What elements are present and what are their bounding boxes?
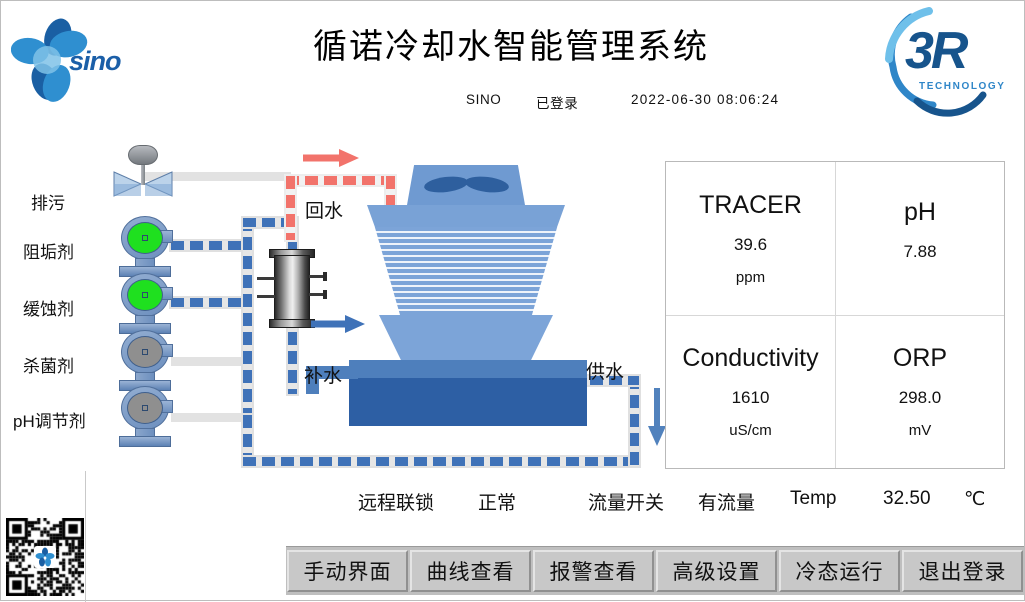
pump-biocide[interactable]	[117, 330, 173, 392]
tower-lower-body	[379, 315, 553, 365]
flow-switch-label: 流量开关	[588, 488, 664, 515]
button-curve-view[interactable]: 曲线查看	[410, 550, 531, 592]
sino-mini-flower-icon	[34, 546, 56, 568]
pump-scale-inhibitor[interactable]	[117, 216, 173, 278]
remote-interlock-value: 正常	[478, 488, 516, 515]
qr-center-logo	[34, 546, 56, 568]
label-return-water: 回水	[305, 196, 343, 223]
pipe-scale-inhibitor-active	[169, 239, 249, 252]
button-alarm-view[interactable]: 报警查看	[533, 550, 654, 592]
3r-technology-logo: 3R TECHNOLOGY	[871, 5, 1016, 117]
measurement-card-conductivity[interactable]: Conductivity 1610 uS/cm	[666, 315, 835, 468]
measurement-unit: ppm	[736, 270, 765, 285]
vessel-flange-lower	[323, 290, 327, 299]
temp-label: Temp	[790, 488, 836, 510]
label-blowdown: 排污	[31, 189, 65, 214]
pipe-return-top	[284, 174, 397, 187]
measurement-name: TRACER	[699, 193, 802, 218]
measurement-value: 298.0	[899, 389, 942, 406]
measurement-value: 39.6	[734, 236, 767, 253]
tower-fill-louvers	[369, 227, 563, 315]
vessel-nozzle-left-lower	[257, 295, 275, 298]
valve-actuator	[128, 145, 158, 165]
label-scale-inhibitor: 阻垢剂	[23, 238, 74, 263]
header-bar: sino 循诺冷却水智能管理系统 SINO 已登录 2022-06-30 08:…	[1, 1, 1024, 121]
3r-subtitle: TECHNOLOGY	[919, 81, 1006, 92]
3r-wordmark: 3R	[905, 21, 965, 81]
temp-unit: ℃	[964, 488, 985, 511]
process-schematic: 排污 阻垢剂 缓蚀剂 杀菌剂 pH调节剂	[1, 121, 661, 481]
pipe-ph-adjuster	[171, 413, 246, 422]
measurement-name: pH	[904, 200, 936, 225]
remote-interlock-label: 远程联锁	[358, 488, 434, 515]
arrow-return-flow	[301, 147, 361, 169]
tower-basin	[349, 378, 587, 426]
temp-value: 32.50	[883, 488, 931, 510]
measurement-card-tracer[interactable]: TRACER 39.6 ppm	[666, 162, 835, 315]
session-info: SINO 已登录 2022-06-30 08:06:24	[431, 92, 931, 112]
pump-hub	[142, 235, 148, 241]
status-row: 远程联锁 正常 流量开关 有流量 Temp 32.50 ℃	[1, 488, 1024, 528]
label-biocide: 杀菌剂	[23, 352, 74, 377]
left-divider	[85, 471, 86, 602]
bottom-button-bar: 手动界面 曲线查看 报警查看 高级设置 冷态运行 退出登录	[286, 546, 1024, 595]
button-manual-interface[interactable]: 手动界面	[287, 550, 408, 592]
button-advanced-settings[interactable]: 高级设置	[656, 550, 777, 592]
datetime-text: 2022-06-30 08:06:24	[631, 92, 779, 107]
label-corrosion-inhibitor: 缓蚀剂	[23, 295, 74, 320]
measurement-name: Conductivity	[682, 346, 818, 371]
pipe-loop-bottom	[241, 455, 641, 468]
flow-switch-value: 有流量	[698, 488, 755, 515]
vessel-flange-upper	[323, 272, 327, 281]
measurement-value: 1610	[732, 389, 770, 406]
button-cold-run[interactable]: 冷态运行	[779, 550, 900, 592]
pump-hub	[142, 292, 148, 298]
tower-basin-rim	[349, 360, 587, 380]
pipe-biocide	[171, 357, 246, 366]
qr-code[interactable]	[6, 518, 84, 596]
pipe-return-left	[284, 174, 297, 242]
measurement-unit: uS/cm	[729, 423, 772, 438]
button-logout[interactable]: 退出登录	[902, 550, 1023, 592]
pump-ph-adjuster[interactable]	[117, 386, 173, 448]
arrow-makeup-flow	[309, 313, 367, 335]
pump-hub	[142, 349, 148, 355]
login-status: 已登录	[536, 92, 578, 112]
pipe-corrosion-inhibitor-active	[169, 296, 249, 309]
pump-base	[119, 436, 171, 447]
measurement-value: 7.88	[903, 243, 936, 260]
pump-corrosion-inhibitor[interactable]	[117, 273, 173, 335]
sino-logo: sino	[11, 13, 141, 103]
pipe-loop-right-up	[628, 374, 641, 468]
measurement-panel: TRACER 39.6 ppm pH 7.88 Conductivity 161…	[665, 161, 1005, 469]
sino-wordmark: sino	[69, 46, 121, 77]
vessel-shell	[274, 255, 310, 321]
tower-shoulder	[367, 205, 565, 227]
vessel-nozzle-left-upper	[257, 277, 275, 280]
label-makeup-water: 补水	[304, 361, 342, 388]
measurement-name: ORP	[893, 346, 947, 371]
page-title: 循诺冷却水智能管理系统	[256, 19, 766, 68]
label-ph-adjuster: pH调节剂	[13, 407, 86, 432]
label-supply-water: 供水	[586, 357, 624, 384]
measurement-card-orp[interactable]: ORP 298.0 mV	[835, 315, 1004, 468]
blowdown-valve[interactable]	[113, 149, 173, 199]
pump-hub	[142, 405, 148, 411]
measurement-unit: mV	[909, 423, 932, 438]
user-name: SINO	[466, 92, 501, 107]
pipe-dosing-riser	[241, 216, 254, 426]
measurement-card-ph[interactable]: pH 7.88	[835, 162, 1004, 315]
scada-main-screen: sino 循诺冷却水智能管理系统 SINO 已登录 2022-06-30 08:…	[0, 0, 1025, 601]
